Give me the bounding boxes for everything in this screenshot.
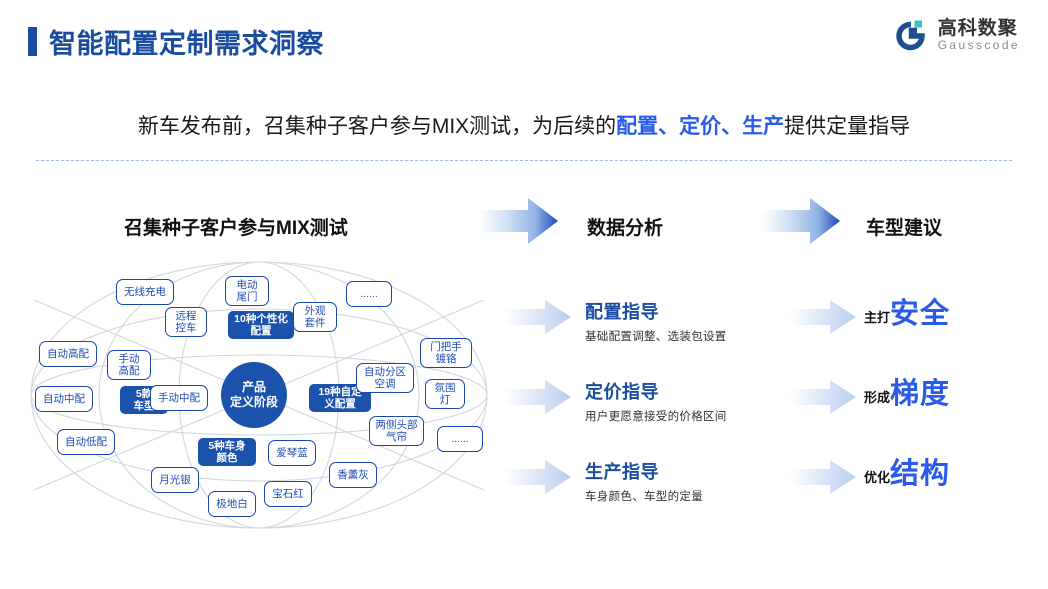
result-keyword-gradient: 梯度 [890, 380, 950, 409]
leaf-node-auto-mid-trim[interactable]: 自动中配 [35, 386, 93, 412]
leaf-node-remote-control[interactable]: 远程 控车 [165, 307, 207, 337]
leaf-node-polar-white[interactable]: 极地白 [208, 491, 256, 517]
page-title: 智能配置定制需求洞察 [28, 22, 324, 61]
pale-arrow-icon-5 [790, 380, 856, 414]
leaf-node-manual-mid-trim[interactable]: 手动中配 [150, 385, 208, 411]
flow-arrow-icon-1 [480, 198, 558, 244]
gausscode-g-icon [889, 18, 929, 52]
flow-arrow-icon-2 [762, 198, 840, 244]
result-prefix-safety: 主打 [864, 307, 890, 329]
leaf-node-appearance-kit[interactable]: 外观 套件 [293, 302, 337, 332]
analysis-title-production: 生产指导 [585, 458, 703, 484]
mindmap-hub[interactable]: 产品 定义阶段 [221, 362, 287, 428]
branch-node-body-colors[interactable]: 5种车身 颜色 [198, 438, 256, 466]
product-definition-mindmap: 产品 定义阶段 10种个性化 配置 19种自定 义配置 5款 车型 5种车身 颜… [16, 258, 516, 533]
pale-arrow-icon-1 [505, 300, 571, 334]
column-heading-middle: 数据分析 [587, 213, 663, 240]
leaf-node-ellipsis-top[interactable]: ...... [346, 281, 392, 307]
leaf-node-aegean-blue[interactable]: 爱琴蓝 [268, 440, 316, 466]
leaf-node-ellipsis-right[interactable]: ...... [437, 426, 483, 452]
subtitle-part-1: 新车发布前，召集种子客户参与MIX测试，为后续的 [138, 115, 616, 138]
leaf-node-auto-low-trim[interactable]: 自动低配 [57, 429, 115, 455]
logo-english-name: Gausscode [938, 39, 1020, 52]
column-heading-left: 召集种子客户参与MIX测试 [124, 213, 348, 240]
subtitle-part-2: 提供定量指导 [784, 115, 910, 138]
pale-arrow-icon-3 [505, 460, 571, 494]
result-prefix-structure: 优化 [864, 467, 890, 489]
subtitle: 新车发布前，召集种子客户参与MIX测试，为后续的配置、定价、生产提供定量指导 [0, 110, 1048, 140]
result-prefix-gradient: 形成 [864, 387, 890, 409]
logo-chinese-name: 高科数聚 [938, 19, 1020, 39]
analysis-sub-config: 基础配置调整、选装包设置 [585, 328, 727, 344]
leaf-node-auto-high-trim[interactable]: 自动高配 [39, 341, 97, 367]
analysis-title-pricing: 定价指导 [585, 378, 727, 404]
slide-root: 智能配置定制需求洞察 高科数聚 Gausscode 新车发布前，召集种子客户参与… [0, 0, 1048, 589]
section-divider [36, 160, 1012, 161]
column-heading-right: 车型建议 [866, 213, 942, 240]
analysis-sub-pricing: 用户更愿意接受的价格区间 [585, 408, 727, 424]
leaf-node-lavender-grey[interactable]: 香薰灰 [329, 462, 377, 488]
result-keyword-structure: 结构 [890, 460, 950, 489]
leaf-node-ambient-light[interactable]: 氛围 灯 [425, 379, 465, 409]
leaf-node-wireless-charging[interactable]: 无线充电 [116, 279, 174, 305]
title-text: 智能配置定制需求洞察 [49, 22, 324, 61]
pale-arrow-icon-6 [790, 460, 856, 494]
leaf-node-side-head-airbag[interactable]: 两侧头部 气帘 [369, 416, 424, 446]
result-keyword-safety: 安全 [890, 300, 950, 329]
result-row-gradient: 形成 梯度 [864, 380, 950, 409]
leaf-node-power-tailgate[interactable]: 电动 尾门 [225, 276, 269, 306]
branch-node-personalized-config[interactable]: 10种个性化 配置 [228, 311, 294, 339]
analysis-title-config: 配置指导 [585, 298, 727, 324]
brand-logo: 高科数聚 Gausscode [889, 18, 1020, 52]
pale-arrow-icon-4 [790, 300, 856, 334]
leaf-node-manual-high-trim[interactable]: 手动 高配 [107, 350, 151, 380]
leaf-node-ruby-red[interactable]: 宝石红 [264, 481, 312, 507]
analysis-sub-production: 车身颜色、车型的定量 [585, 488, 703, 504]
analysis-row-production: 生产指导 车身颜色、车型的定量 [585, 458, 703, 504]
leaf-node-moonlight-silver[interactable]: 月光银 [151, 467, 199, 493]
subtitle-highlight: 配置、定价、生产 [616, 115, 784, 138]
result-row-structure: 优化 结构 [864, 460, 950, 489]
analysis-row-pricing: 定价指导 用户更愿意接受的价格区间 [585, 378, 727, 424]
pale-arrow-icon-2 [505, 380, 571, 414]
leaf-node-chrome-door-handle[interactable]: 门把手 镀铬 [420, 338, 472, 368]
result-row-safety: 主打 安全 [864, 300, 950, 329]
title-accent-bar [28, 27, 37, 56]
analysis-row-config: 配置指导 基础配置调整、选装包设置 [585, 298, 727, 344]
leaf-node-dual-zone-ac[interactable]: 自动分区 空调 [356, 363, 414, 393]
